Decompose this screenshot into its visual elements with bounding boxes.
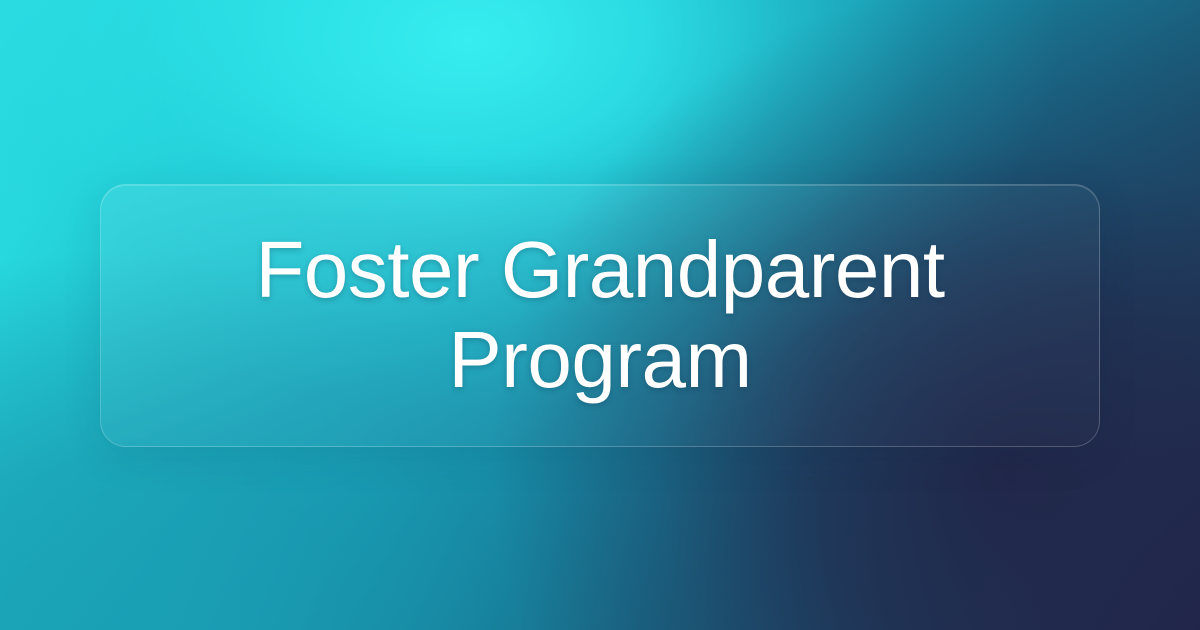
content-stage: Foster Grandparent Program	[0, 0, 1200, 630]
title-card: Foster Grandparent Program	[100, 184, 1100, 447]
page-title: Foster Grandparent Program	[161, 225, 1039, 405]
og-image-canvas: Foster Grandparent Program	[0, 0, 1200, 630]
